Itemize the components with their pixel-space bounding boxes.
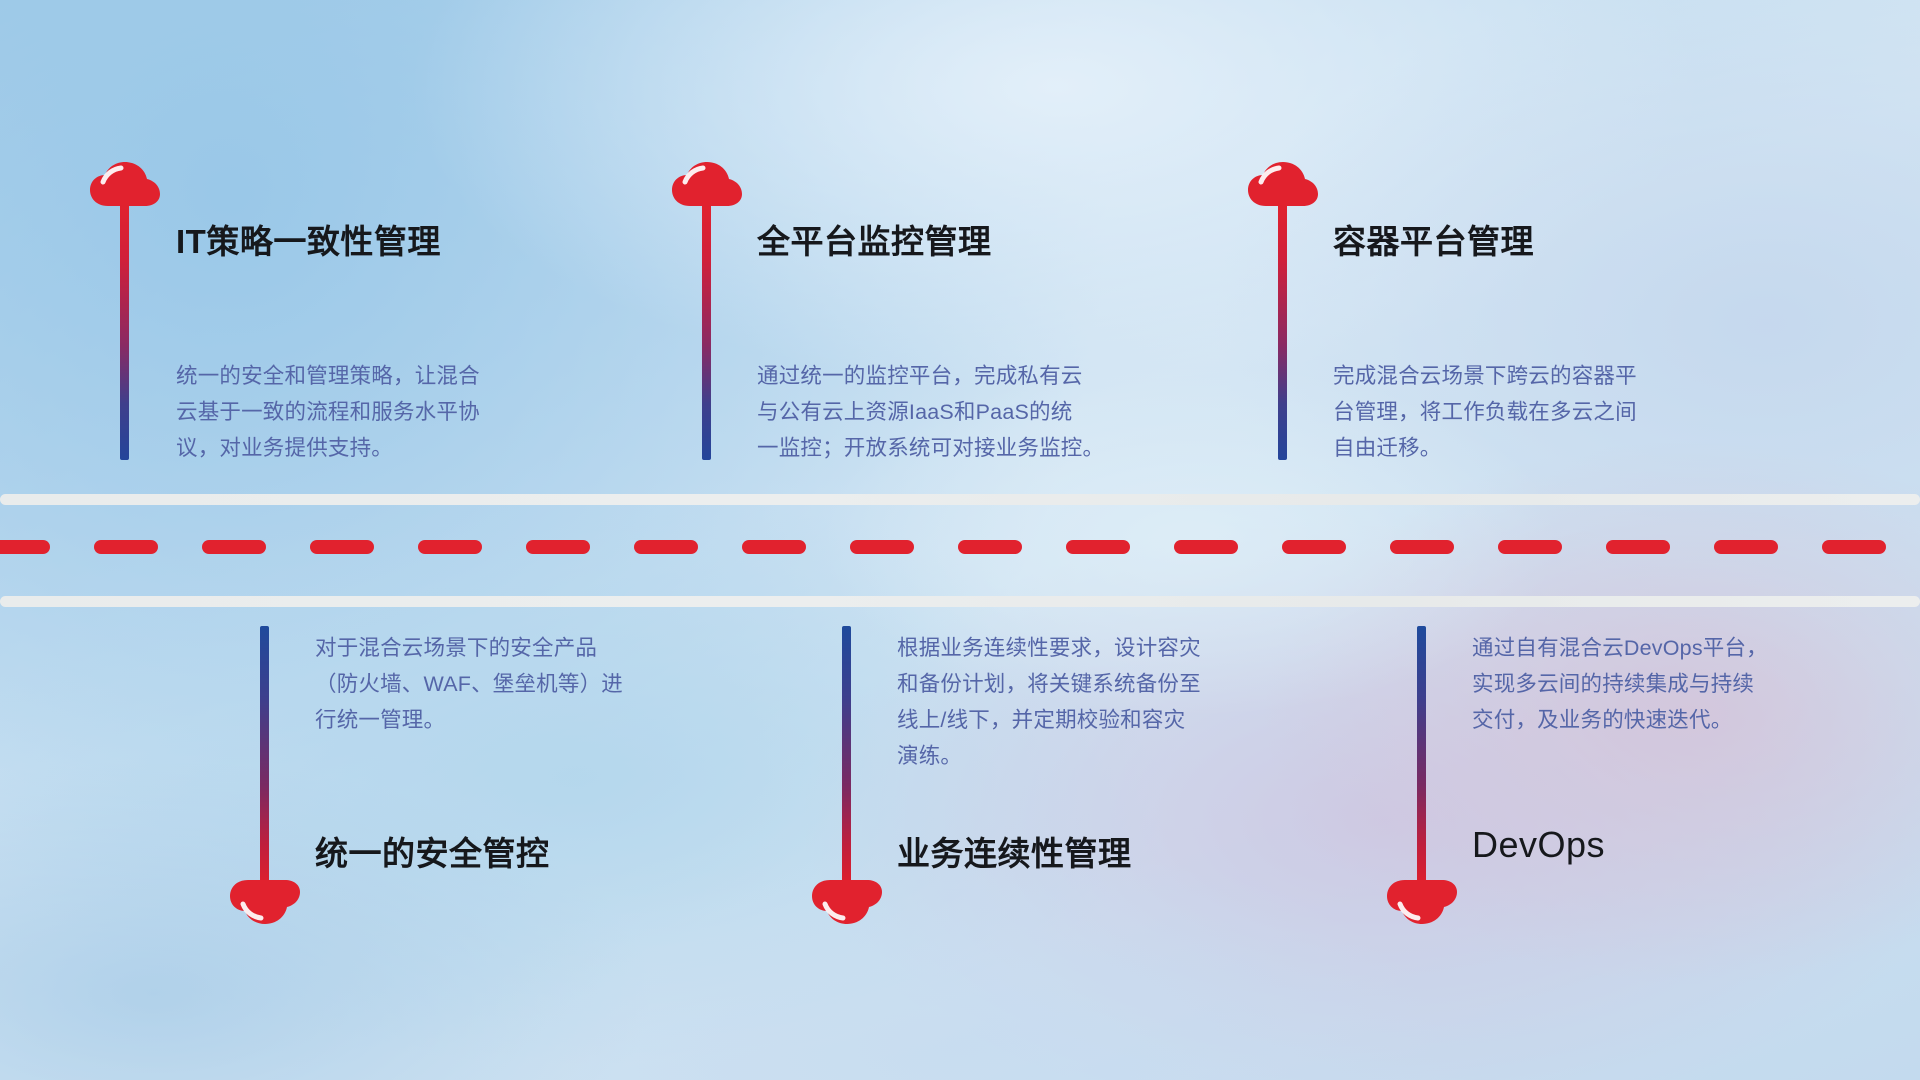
marker-stem bbox=[120, 204, 129, 460]
column-title: 全平台监控管理 bbox=[757, 215, 992, 263]
column-body: 通过自有混合云DevOps平台， 实现多云间的持续集成与持续 交付，及业务的快速… bbox=[1472, 630, 1812, 738]
divider-dash bbox=[634, 540, 698, 554]
body-line: 通过统一的监控平台，完成私有云 bbox=[757, 358, 1097, 394]
column-title: IT策略一致性管理 bbox=[176, 215, 441, 263]
column-body: 根据业务连续性要求，设计容灾 和备份计划，将关键系统备份至 线上/线下，并定期校… bbox=[897, 630, 1237, 774]
divider-dash bbox=[1174, 540, 1238, 554]
column-title: 业务连续性管理 bbox=[897, 827, 1132, 875]
divider-dash bbox=[1066, 540, 1130, 554]
cloud-icon bbox=[228, 878, 302, 926]
body-line: 根据业务连续性要求，设计容灾 bbox=[897, 630, 1237, 666]
body-line: （防火墙、WAF、堡垒机等）进 bbox=[315, 666, 655, 702]
divider-dash bbox=[1498, 540, 1562, 554]
cloud-icon bbox=[1385, 878, 1459, 926]
body-line: 演练。 bbox=[897, 738, 1237, 774]
divider-dash bbox=[310, 540, 374, 554]
marker-stem bbox=[260, 626, 269, 884]
body-line: 自由迁移。 bbox=[1333, 430, 1673, 466]
column-body: 完成混合云场景下跨云的容器平 台管理，将工作负载在多云之间 自由迁移。 bbox=[1333, 358, 1673, 466]
divider-dash bbox=[850, 540, 914, 554]
marker-stem bbox=[1417, 626, 1426, 884]
body-line: 统一的安全和管理策略，让混合 bbox=[176, 358, 516, 394]
divider-dash bbox=[0, 540, 50, 554]
body-line: 通过自有混合云DevOps平台， bbox=[1472, 630, 1812, 666]
marker-stem bbox=[842, 626, 851, 884]
marker-stem bbox=[1278, 204, 1287, 460]
body-line: 一监控；开放系统可对接业务监控。 bbox=[757, 430, 1097, 466]
divider-dash bbox=[742, 540, 806, 554]
divider-line-bottom bbox=[0, 596, 1920, 607]
column-body: 对于混合云场景下的安全产品 （防火墙、WAF、堡垒机等）进 行统一管理。 bbox=[315, 630, 655, 738]
cloud-icon bbox=[810, 878, 884, 926]
body-line: 行统一管理。 bbox=[315, 702, 655, 738]
divider-dash bbox=[1822, 540, 1886, 554]
divider-dash bbox=[1390, 540, 1454, 554]
cloud-icon bbox=[1246, 160, 1320, 208]
column-title: 统一的安全管控 bbox=[315, 827, 550, 875]
body-line: 台管理，将工作负载在多云之间 bbox=[1333, 394, 1673, 430]
divider-dashed-road bbox=[0, 540, 1920, 554]
body-line: 实现多云间的持续集成与持续 bbox=[1472, 666, 1812, 702]
divider-dash bbox=[94, 540, 158, 554]
divider-dash bbox=[526, 540, 590, 554]
body-line: 对于混合云场景下的安全产品 bbox=[315, 630, 655, 666]
divider-dash bbox=[1714, 540, 1778, 554]
body-line: 交付，及业务的快速迭代。 bbox=[1472, 702, 1812, 738]
divider-dash bbox=[418, 540, 482, 554]
divider-dash bbox=[1282, 540, 1346, 554]
divider-dash bbox=[958, 540, 1022, 554]
body-line: 与公有云上资源IaaS和PaaS的统 bbox=[757, 394, 1097, 430]
body-line: 和备份计划，将关键系统备份至 bbox=[897, 666, 1237, 702]
column-title: 容器平台管理 bbox=[1333, 215, 1534, 263]
divider-dash bbox=[1606, 540, 1670, 554]
cloud-icon bbox=[88, 160, 162, 208]
body-line: 云基于一致的流程和服务水平协 bbox=[176, 394, 516, 430]
body-line: 议，对业务提供支持。 bbox=[176, 430, 516, 466]
divider-dash bbox=[202, 540, 266, 554]
body-line: 线上/线下，并定期校验和容灾 bbox=[897, 702, 1237, 738]
divider-line-top bbox=[0, 494, 1920, 505]
cloud-icon bbox=[670, 160, 744, 208]
infographic-canvas: IT策略一致性管理 统一的安全和管理策略，让混合 云基于一致的流程和服务水平协 … bbox=[0, 0, 1920, 1080]
column-body: 统一的安全和管理策略，让混合 云基于一致的流程和服务水平协 议，对业务提供支持。 bbox=[176, 358, 516, 466]
marker-stem bbox=[702, 204, 711, 460]
body-line: 完成混合云场景下跨云的容器平 bbox=[1333, 358, 1673, 394]
column-title: DevOps bbox=[1472, 824, 1605, 866]
column-body: 通过统一的监控平台，完成私有云 与公有云上资源IaaS和PaaS的统 一监控；开… bbox=[757, 358, 1097, 466]
